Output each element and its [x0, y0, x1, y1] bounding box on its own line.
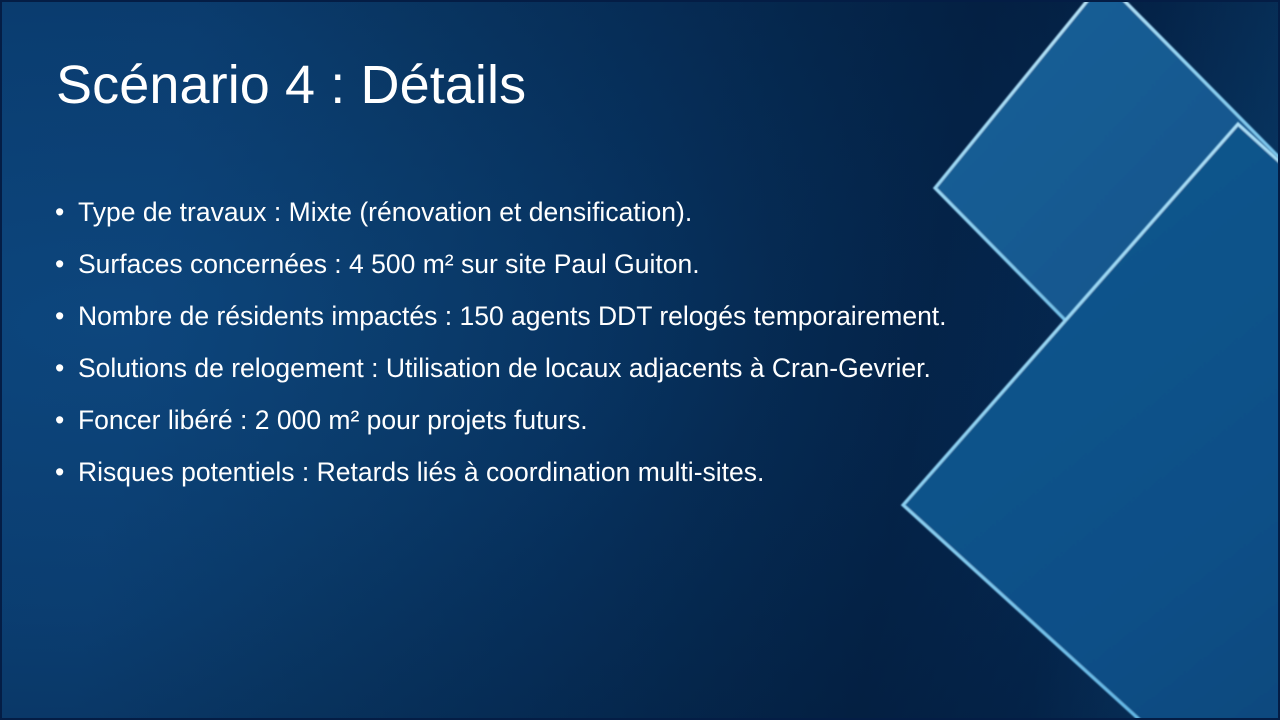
bullet-list: • Type de travaux : Mixte (rénovation et… [52, 186, 1252, 498]
bullet-marker-icon: • [55, 446, 64, 498]
list-item-label: Solutions de relogement : Utilisation de… [78, 353, 931, 383]
page-title: Scénario 4 : Détails [56, 54, 1156, 118]
presentation-slide: Scénario 4 : Détails • Type de travaux :… [0, 0, 1280, 720]
list-item: • Nombre de résidents impactés : 150 age… [52, 290, 1252, 342]
bullet-marker-icon: • [55, 290, 64, 342]
bullet-marker-icon: • [55, 394, 64, 446]
bullet-marker-icon: • [55, 342, 64, 394]
bullet-marker-icon: • [55, 186, 64, 238]
list-item-label: Surfaces concernées : 4 500 m² sur site … [78, 249, 700, 279]
list-item: • Solutions de relogement : Utilisation … [52, 342, 1252, 394]
list-item-label: Type de travaux : Mixte (rénovation et d… [78, 197, 692, 227]
list-item: • Risques potentiels : Retards liés à co… [52, 446, 1252, 498]
list-item-label: Foncer libéré : 2 000 m² pour projets fu… [78, 405, 588, 435]
list-item-label: Risques potentiels : Retards liés à coor… [78, 457, 764, 487]
bullet-marker-icon: • [55, 238, 64, 290]
list-item: • Surfaces concernées : 4 500 m² sur sit… [52, 238, 1252, 290]
list-item-label: Nombre de résidents impactés : 150 agent… [78, 301, 947, 331]
list-item: • Foncer libéré : 2 000 m² pour projets … [52, 394, 1252, 446]
slide-content: Scénario 4 : Détails • Type de travaux :… [0, 0, 1280, 720]
list-item: • Type de travaux : Mixte (rénovation et… [52, 186, 1252, 238]
